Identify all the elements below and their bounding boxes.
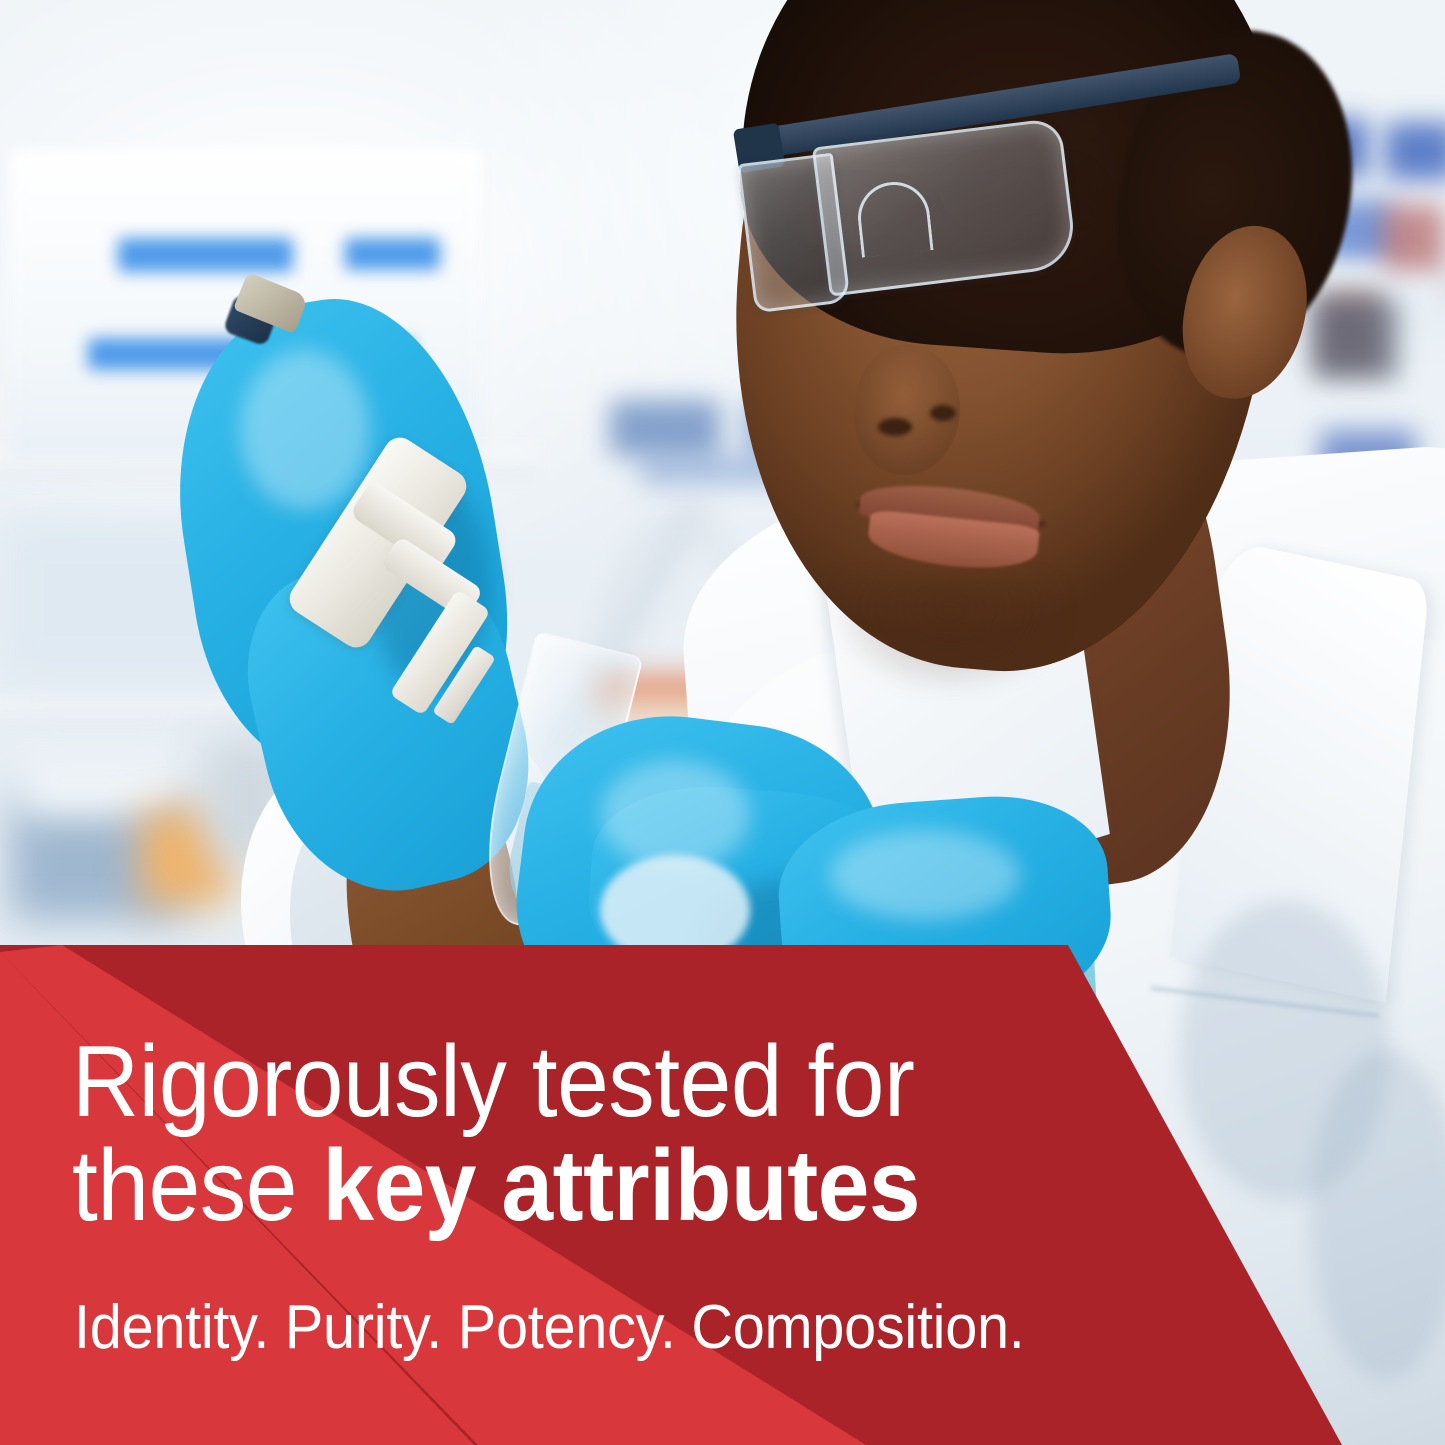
goggles-lens-left — [737, 153, 851, 314]
banner-headline: Rigorously tested for these key attribut… — [72, 1030, 1152, 1238]
flask-bottom — [600, 855, 750, 965]
headline-line-1: Rigorously tested for — [72, 1030, 1066, 1134]
nostril-right — [930, 405, 956, 421]
banner-subhead: Identity. Purity. Potency. Composition. — [74, 1295, 1025, 1361]
headline-line-2-bold: key attributes — [322, 1130, 920, 1242]
glove-highlight-upper — [240, 350, 370, 510]
nostril-left — [878, 418, 912, 436]
glove-highlight-wrist — [830, 830, 1020, 920]
goggles-lens-right — [812, 117, 1078, 296]
headline-line-2: these key attributes — [72, 1134, 1066, 1238]
headline-line-2-light: these — [72, 1130, 322, 1242]
glove-highlight-lower — [600, 760, 750, 870]
chin-shadow — [830, 575, 1070, 695]
promo-banner-image: Rigorously tested for these key attribut… — [0, 0, 1445, 1445]
